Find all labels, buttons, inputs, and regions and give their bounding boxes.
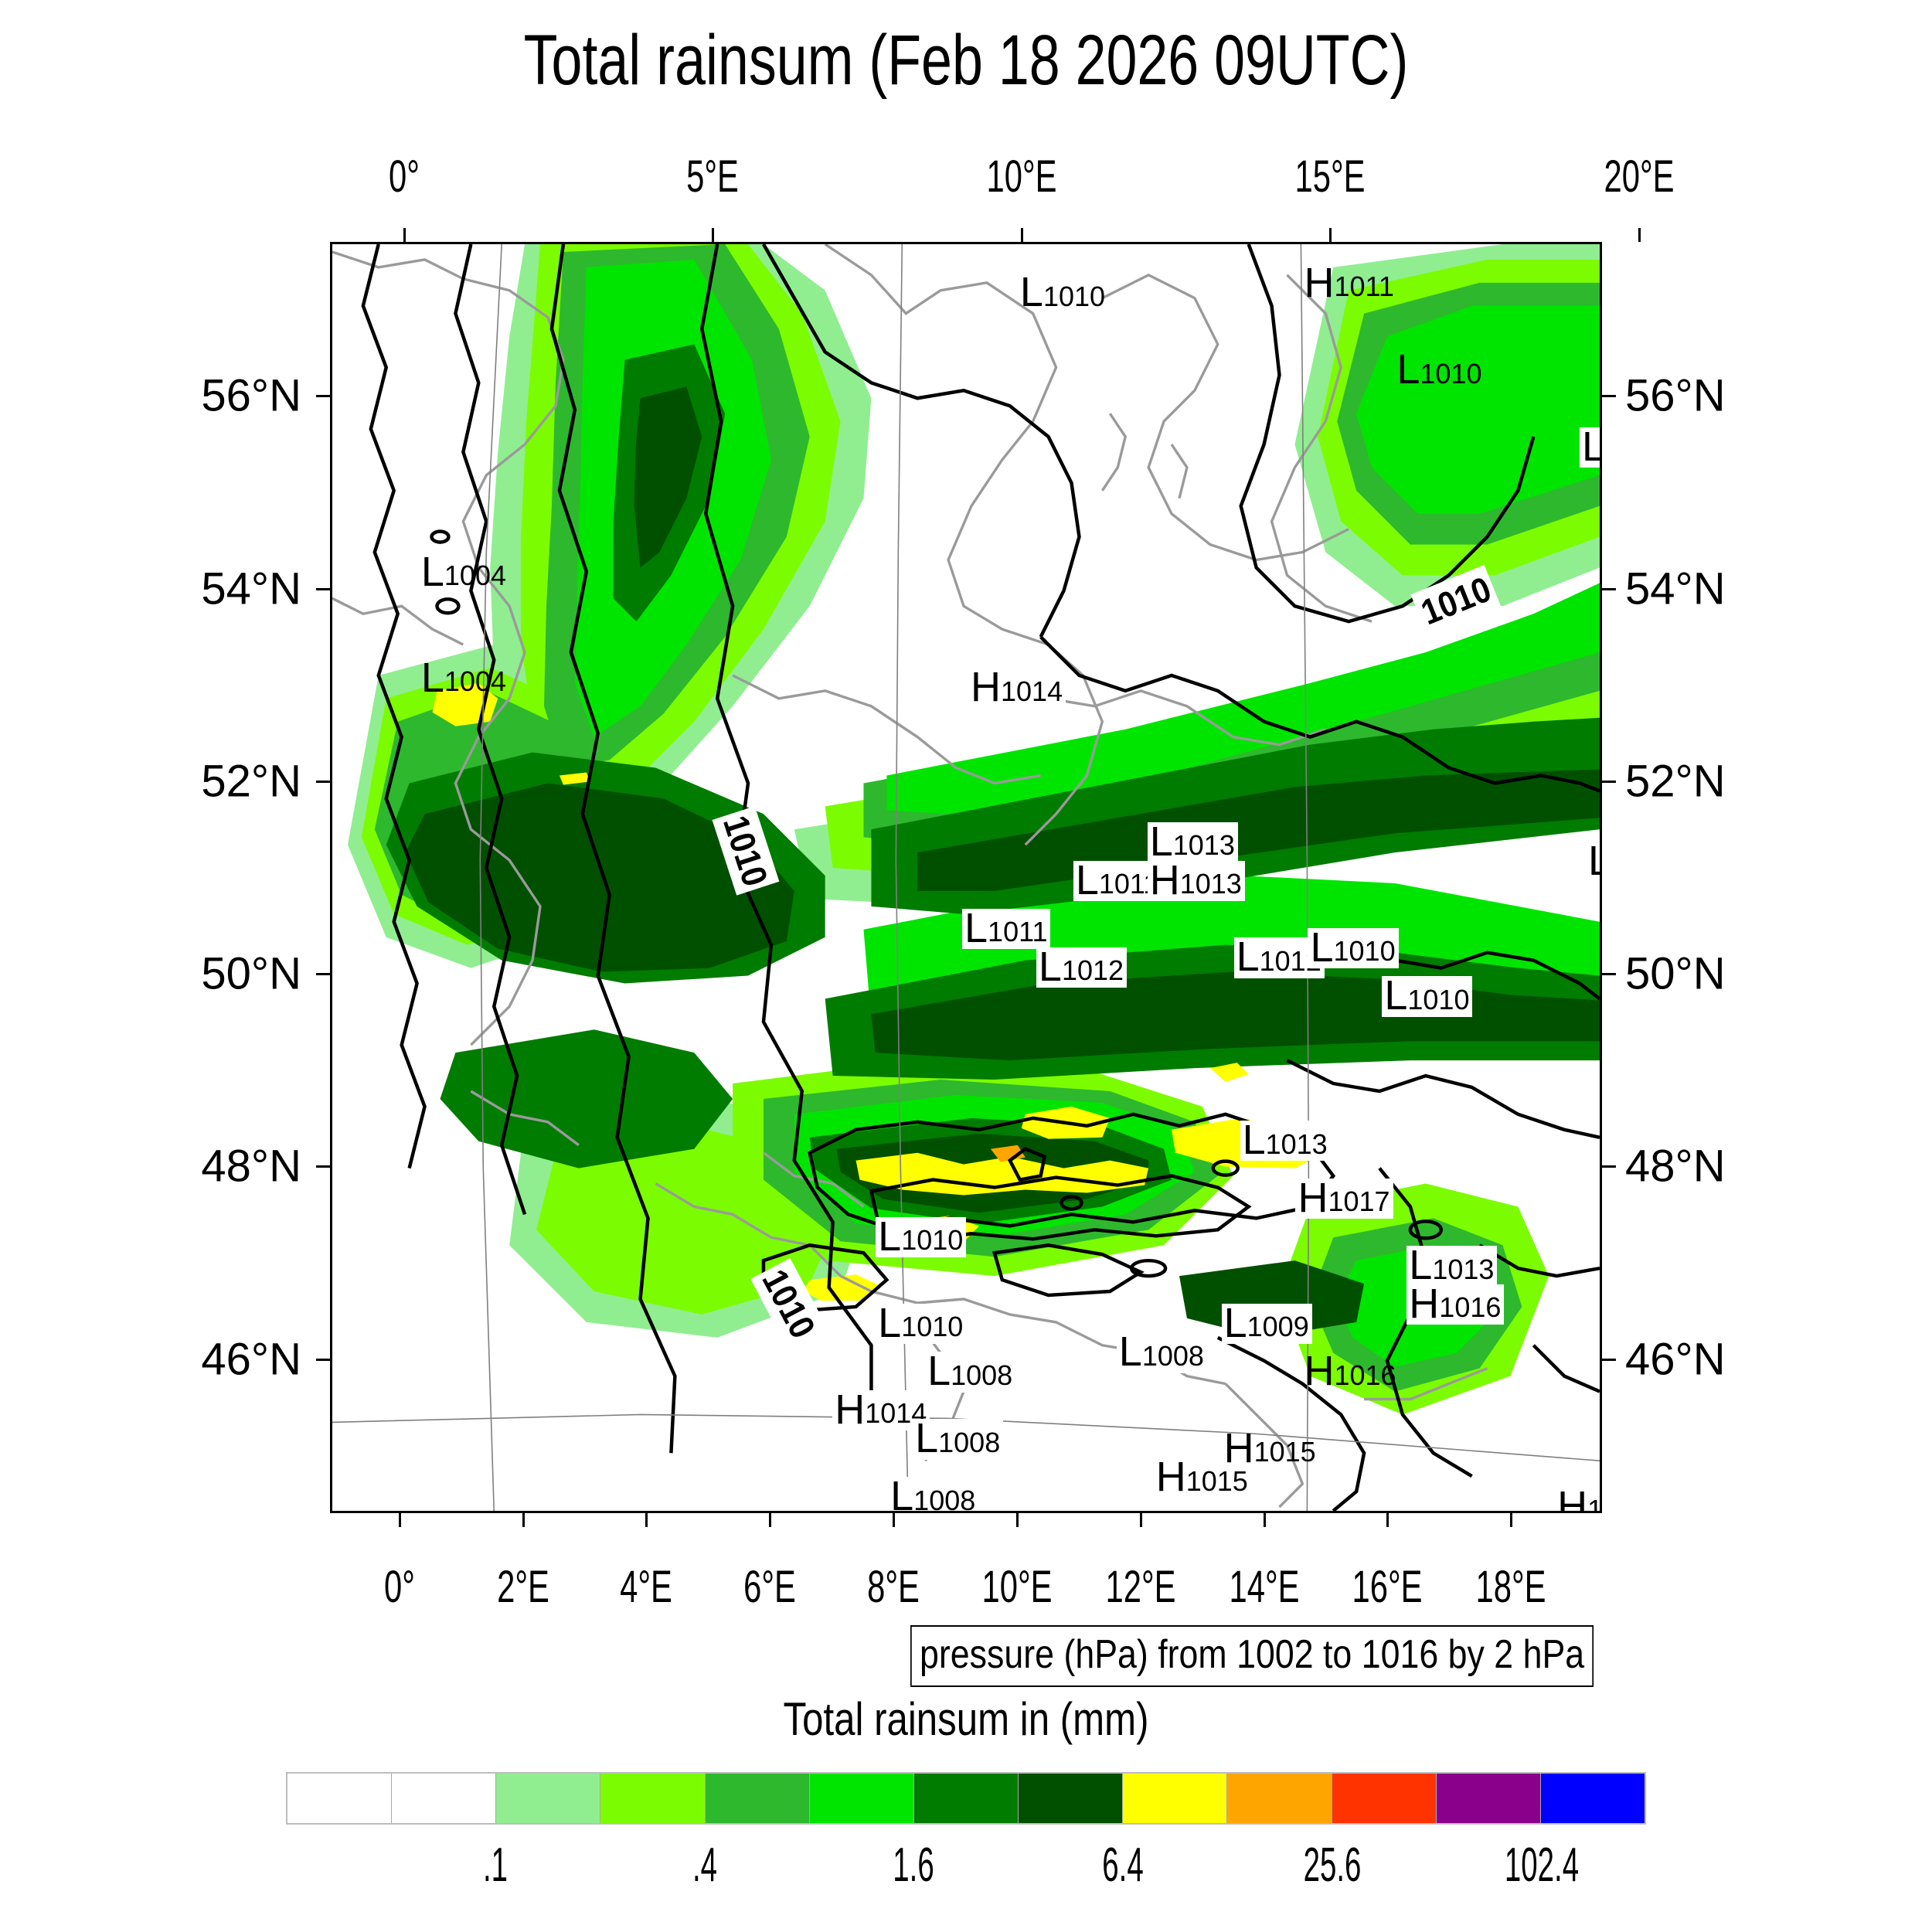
lat-label-left: 56°N (93, 370, 301, 422)
pressure-value: 1017 (1328, 1190, 1389, 1216)
pressure-symbol: L (1020, 274, 1043, 310)
pressure-value: 1008 (938, 1431, 1000, 1457)
lat-label-right: 50°N (1625, 948, 1726, 1000)
lat-label-left: 52°N (93, 755, 301, 807)
lat-tick-left (316, 588, 330, 590)
pressure-symbol: L (1588, 843, 1602, 879)
colorbar-cell-6[interactable] (914, 1774, 1019, 1823)
colorbar-tick-label: .4 (692, 1838, 716, 1893)
lat-tick-right (1602, 973, 1616, 975)
lat-label-left: 54°N (93, 563, 301, 614)
map-plot-area: L1004L1004L1010H1011L1010L1009H1014L1011… (330, 242, 1602, 1513)
pressure-symbol: H (971, 669, 1001, 705)
lon-tick-bottom (1140, 1513, 1142, 1527)
pressure-symbol: L (1076, 862, 1099, 898)
pressure-symbol: H (1557, 1488, 1587, 1513)
pressure-value: 1011 (988, 920, 1047, 946)
lon-label-top: 0° (389, 151, 420, 202)
pressure-symbol: L (1396, 352, 1420, 387)
colorbar-tick-label: 25.6 (1303, 1838, 1361, 1893)
pressure-symbol: H (1298, 1180, 1328, 1216)
pressure-high-label: H1015 (1154, 1458, 1251, 1498)
pressure-low-label: L1009 (1580, 427, 1602, 468)
pressure-value: 1010 (1043, 285, 1105, 311)
pressure-low-label: L1012 (1036, 947, 1127, 988)
pressure-value: 1010 (901, 1315, 963, 1341)
pressure-value: 1008 (913, 1489, 975, 1513)
pressure-value: 1016 (1439, 1296, 1501, 1321)
colorbar-tick-label: 102.4 (1505, 1838, 1579, 1893)
lon-label-bottom: 2°E (497, 1561, 549, 1613)
lon-tick-bottom (1016, 1513, 1019, 1527)
pressure-low-label: L1010 (1382, 976, 1472, 1016)
lat-label-right: 48°N (1625, 1141, 1726, 1192)
colorbar-cell-0[interactable] (287, 1774, 392, 1823)
lon-label-bottom: 16°E (1352, 1561, 1423, 1613)
pressure-symbol: L (890, 1478, 913, 1513)
pressure-high-label: H1014 (968, 668, 1066, 708)
pressure-low-label: L1008 (925, 1352, 1015, 1392)
pressure-symbol: L (1582, 429, 1602, 464)
pressure-low-label: L1013 (1240, 1121, 1331, 1161)
pressure-value: 1010 (1407, 988, 1469, 1014)
pressure-symbol: H (1150, 862, 1180, 898)
colorbar-cell-10[interactable] (1332, 1774, 1437, 1823)
pressure-value: 1014 (1001, 680, 1063, 706)
pressure-low-label: L1010 (1308, 928, 1398, 968)
colorbar-cell-9[interactable] (1227, 1774, 1332, 1823)
lon-label-bottom: 4°E (621, 1561, 673, 1613)
lat-tick-left (316, 1359, 330, 1361)
pressure-symbol: L (1384, 978, 1407, 1013)
pressure-value: 1010 (1334, 940, 1396, 965)
lon-tick-top (1329, 228, 1332, 242)
pressure-low-label: L1010 (1018, 273, 1108, 313)
pressure-value: 1010 (1420, 362, 1481, 388)
lon-tick-top (1021, 228, 1023, 242)
lon-tick-top (403, 228, 406, 242)
lon-label-bottom: 12°E (1105, 1561, 1175, 1613)
lat-tick-right (1602, 781, 1616, 783)
pressure-symbol: L (1243, 1122, 1266, 1158)
lat-tick-left (316, 395, 330, 397)
pressure-low-label: L1004 (419, 553, 509, 593)
pressure-symbol: L (915, 1420, 938, 1456)
pressure-symbol: L (878, 1305, 901, 1341)
colorbar-tick-label: 1.6 (893, 1838, 934, 1893)
lon-tick-bottom (522, 1513, 525, 1527)
pressure-symbol: L (1119, 1334, 1142, 1369)
pressure-symbol: L (421, 660, 444, 696)
pressure-low-label: L1004 (419, 658, 509, 699)
colorbar-title: Total rainsum in (mm) (174, 1692, 1758, 1746)
pressure-symbol: H (1409, 1286, 1439, 1321)
lon-label-top: 15°E (1295, 151, 1366, 202)
pressure-high-label: H1016 (1301, 1352, 1399, 1392)
colorbar-cell-2[interactable] (496, 1774, 600, 1823)
pressure-value: 1013 (1266, 1133, 1328, 1158)
pressure-value: 1010 (901, 1229, 963, 1254)
lon-label-bottom: 0° (384, 1561, 415, 1613)
pressure-symbol: L (878, 1219, 901, 1254)
pressure-value: 1004 (444, 670, 506, 696)
page-title: Total rainsum (Feb 18 2026 09UTC) (213, 20, 1719, 101)
lat-tick-right (1602, 395, 1616, 397)
pressure-low-label: L1010 (876, 1217, 966, 1257)
lat-tick-right (1602, 1359, 1616, 1361)
lat-label-right: 56°N (1625, 370, 1726, 422)
lat-tick-left (316, 781, 330, 783)
pressure-symbol: L (927, 1353, 951, 1389)
colorbar-tick-label: .1 (483, 1838, 508, 1893)
pressure-high-label: H1013 (1148, 861, 1245, 901)
pressure-high-label: H101 (1555, 1487, 1602, 1513)
pressure-value: 1015 (1186, 1470, 1248, 1495)
pressure-value: 1015 (1254, 1440, 1316, 1466)
colorbar[interactable] (286, 1772, 1646, 1825)
lon-label-top: 20°E (1604, 151, 1674, 202)
pressure-symbol: L (1224, 1305, 1247, 1341)
pressure-value: 1016 (1334, 1364, 1396, 1389)
pressure-symbol: L (1236, 939, 1260, 975)
colorbar-tick-label: 6.4 (1102, 1838, 1143, 1893)
lon-tick-bottom (893, 1513, 895, 1527)
pressure-symbol: L (1409, 1247, 1432, 1283)
pressure-symbol: H (835, 1392, 865, 1427)
lon-label-bottom: 18°E (1476, 1561, 1546, 1613)
lon-tick-bottom (645, 1513, 648, 1527)
pressure-value: 1004 (444, 564, 506, 590)
lat-label-left: 46°N (93, 1333, 301, 1385)
lon-tick-bottom (1386, 1513, 1389, 1527)
pressure-symbol: H (1304, 1353, 1334, 1389)
lat-label-right: 54°N (1625, 563, 1726, 614)
lon-tick-top (712, 228, 714, 242)
lon-label-bottom: 10°E (981, 1561, 1052, 1613)
pressure-symbol: H (1156, 1459, 1186, 1495)
pressure-value: 1013 (1173, 834, 1235, 859)
pressure-low-label: L1010 (1394, 350, 1485, 390)
pressure-value: 1009 (1247, 1315, 1309, 1341)
pressure-low-label: L1009 (1222, 1304, 1312, 1344)
pressure-low-label: L1008 (1117, 1332, 1207, 1372)
pressure-value: 1011 (1334, 275, 1393, 301)
pressure-symbol: L (421, 554, 444, 590)
pressure-low-label: L1008 (913, 1419, 1003, 1459)
pressure-low-label: L10 (1586, 842, 1602, 882)
pressure-value: 1008 (1142, 1345, 1204, 1370)
lon-label-bottom: 14°E (1229, 1561, 1299, 1613)
lon-label-bottom: 6°E (743, 1561, 796, 1613)
colorbar-cell-4[interactable] (706, 1774, 810, 1823)
pressure-value: 1013 (1432, 1258, 1494, 1284)
pressure-caption: pressure (hPa) from 1002 to 1016 by 2 hP… (910, 1625, 1594, 1687)
pressure-value: 1013 (1180, 872, 1242, 898)
pressure-value: 1008 (951, 1364, 1012, 1389)
lat-tick-left (316, 973, 330, 975)
lon-label-bottom: 8°E (867, 1561, 920, 1613)
pressure-low-label: L1008 (888, 1477, 978, 1513)
lon-tick-bottom (1264, 1513, 1266, 1527)
pressure-low-label: L1010 (876, 1304, 966, 1344)
pressure-symbol: H (1304, 265, 1334, 301)
colorbar-cell-11[interactable] (1437, 1774, 1541, 1823)
lat-label-right: 52°N (1625, 755, 1726, 807)
lon-label-top: 10°E (986, 151, 1056, 202)
lat-label-left: 48°N (93, 1141, 301, 1192)
pressure-symbol: L (1310, 930, 1333, 965)
lat-tick-left (316, 1165, 330, 1168)
lat-tick-right (1602, 588, 1616, 590)
pressure-high-label: H1011 (1301, 264, 1396, 304)
lat-label-left: 50°N (93, 948, 301, 1000)
lat-tick-right (1602, 1165, 1616, 1168)
lon-tick-bottom (399, 1513, 401, 1527)
lon-tick-top (1638, 228, 1641, 242)
lon-tick-bottom (1510, 1513, 1512, 1527)
colorbar-cell-8[interactable] (1123, 1774, 1227, 1823)
lon-tick-bottom (769, 1513, 771, 1527)
pressure-high-label: H1016 (1406, 1284, 1504, 1325)
colorbar-cell-12[interactable] (1541, 1774, 1645, 1823)
pressure-symbol: L (1150, 824, 1173, 859)
pressure-high-label: H1017 (1295, 1179, 1393, 1219)
lon-label-top: 5°E (687, 151, 740, 202)
pressure-value: 1012 (1062, 959, 1124, 985)
colorbar-cell-5[interactable] (810, 1774, 914, 1823)
pressure-value: 101 (1587, 1498, 1602, 1513)
lat-label-right: 46°N (1625, 1333, 1726, 1385)
pressure-symbol: L (964, 910, 988, 946)
pressure-symbol: L (1039, 949, 1062, 985)
colorbar-cell-1[interactable] (392, 1774, 496, 1823)
pressure-low-label: L1011 (962, 909, 1050, 949)
colorbar-cell-3[interactable] (600, 1774, 705, 1823)
colorbar-cell-7[interactable] (1019, 1774, 1123, 1823)
